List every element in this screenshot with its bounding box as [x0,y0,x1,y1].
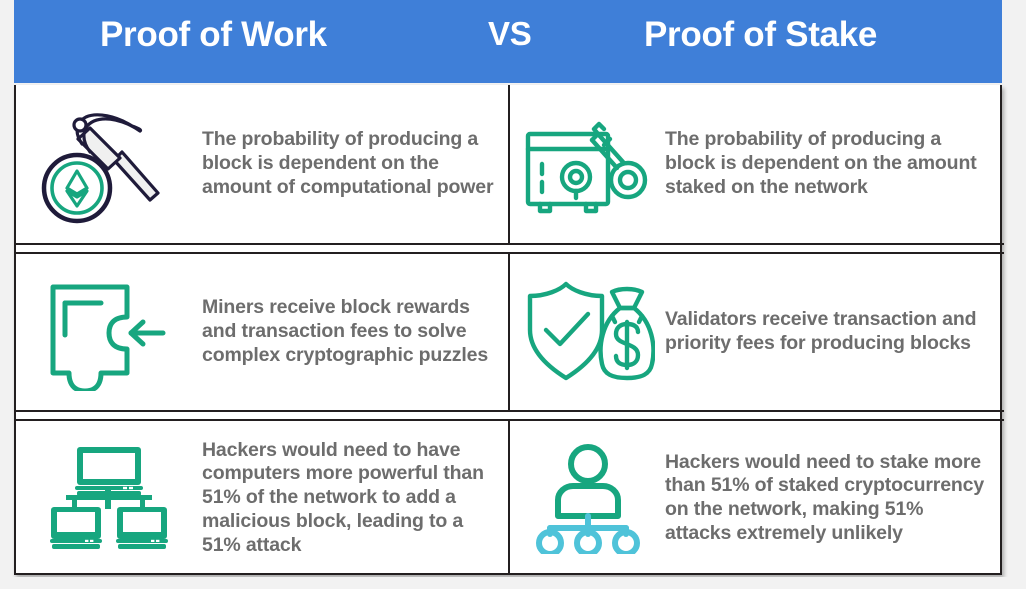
pickaxe-ethereum-coin-icon [16,85,202,243]
cell-text: The probability of producing a block is … [202,128,508,199]
table-row: Hackers would need to have computers mor… [16,419,1004,575]
safe-vault-key-icon [510,85,665,243]
person-hierarchy-icon [510,421,665,575]
table-cell-pos-probability: The probability of producing a block is … [510,85,1004,243]
infographic-slide: Proof of Work VS Proof of Stake [0,0,1026,589]
computer-network-icon [16,421,202,575]
table-cell-pow-probability: The probability of producing a block is … [16,85,510,243]
table-cell-pos-attack: Hackers would need to stake more than 51… [510,421,1004,575]
page-bottom-margin [0,577,1026,589]
header-banner: Proof of Work VS Proof of Stake [14,0,1002,83]
cell-text: Validators receive transaction and prior… [665,308,999,355]
puzzle-piece-arrow-icon [16,254,202,410]
shield-check-money-bag-icon [510,254,665,410]
header-title-vs: VS [488,17,531,50]
cell-text: Miners receive block rewards and transac… [202,296,508,367]
table-cell-pos-rewards: Validators receive transaction and prior… [510,254,1004,410]
table-cell-pow-rewards: Miners receive block rewards and transac… [16,254,510,410]
table-row: Miners receive block rewards and transac… [16,252,1004,412]
table-cell-pow-attack: Hackers would need to have computers mor… [16,421,510,575]
page-left-margin [0,0,14,589]
page-right-margin [1002,0,1026,589]
cell-text: The probability of producing a block is … [665,128,999,199]
cell-text: Hackers would need to stake more than 51… [665,451,999,546]
table-row: The probability of producing a block is … [16,85,1004,245]
header-title-proof-of-stake: Proof of Stake [644,17,877,52]
cell-text: Hackers would need to have computers mor… [202,439,508,557]
header-title-proof-of-work: Proof of Work [100,17,327,52]
comparison-table: The probability of producing a block is … [14,85,1002,575]
